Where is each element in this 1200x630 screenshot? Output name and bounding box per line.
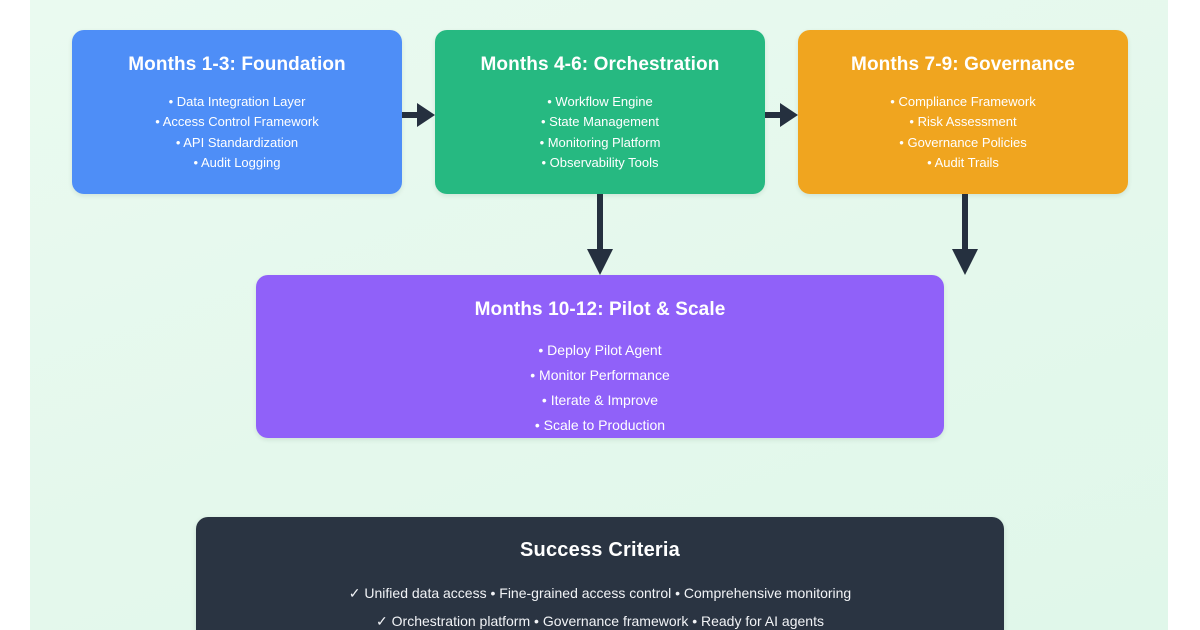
phase-item: • Audit Logging [72, 153, 402, 174]
phase-item-list-foundation: • Data Integration Layer • Access Contro… [72, 92, 402, 174]
phase-item: • Deploy Pilot Agent [256, 338, 944, 363]
arrow-shaft [597, 194, 603, 250]
phase-title-pilot-and-scale: Months 10-12: Pilot & Scale [256, 299, 944, 322]
phase-item: • Workflow Engine [435, 92, 765, 113]
phase-item: • State Management [435, 112, 765, 133]
phase-item-list-orchestration: • Workflow Engine • State Management • M… [435, 92, 765, 174]
phase-item: • Monitoring Platform [435, 133, 765, 154]
phase-item: • Monitor Performance [256, 363, 944, 388]
arrow-shaft [402, 112, 418, 118]
phase-item: • Risk Assessment [798, 112, 1128, 133]
phase-item: • Access Control Framework [72, 112, 402, 133]
phase-item: • Audit Trails [798, 153, 1128, 174]
phase-item: • Iterate & Improve [256, 388, 944, 413]
phase-item: • Data Integration Layer [72, 92, 402, 113]
phase-title-orchestration: Months 4-6: Orchestration [435, 54, 765, 77]
diagram-stage: Months 1-3: Foundation • Data Integratio… [30, 0, 1168, 630]
phase-item-list-governance: • Compliance Framework • Risk Assessment… [798, 92, 1128, 174]
success-criteria-title: Success Criteria [196, 539, 1004, 562]
arrow-shaft [765, 112, 781, 118]
phase-title-governance: Months 7-9: Governance [798, 54, 1128, 77]
phase-item: • Compliance Framework [798, 92, 1128, 113]
phase-card-orchestration[interactable]: Months 4-6: Orchestration • Workflow Eng… [435, 30, 765, 194]
phase-item: • Governance Policies [798, 133, 1128, 154]
success-criteria-line: ✓ Orchestration platform • Governance fr… [196, 607, 1004, 630]
phase-card-governance[interactable]: Months 7-9: Governance • Compliance Fram… [798, 30, 1128, 194]
phase-item: • Scale to Production [256, 413, 944, 438]
arrow-head [417, 103, 435, 127]
diagram-canvas: Months 1-3: Foundation • Data Integratio… [0, 0, 1200, 630]
arrow-head [952, 249, 978, 275]
phase-card-pilot-and-scale[interactable]: Months 10-12: Pilot & Scale • Deploy Pil… [256, 275, 944, 438]
arrow-head [780, 103, 798, 127]
phase-item: • Observability Tools [435, 153, 765, 174]
phase-card-foundation[interactable]: Months 1-3: Foundation • Data Integratio… [72, 30, 402, 194]
success-criteria-panel: Success Criteria ✓ Unified data access •… [196, 517, 1004, 630]
arrow-shaft [962, 194, 968, 250]
phase-title-foundation: Months 1-3: Foundation [72, 54, 402, 77]
arrow-head [587, 249, 613, 275]
phase-item: • API Standardization [72, 133, 402, 154]
success-criteria-line: ✓ Unified data access • Fine-grained acc… [196, 579, 1004, 607]
phase-item-list-pilot-and-scale: • Deploy Pilot Agent • Monitor Performan… [256, 338, 944, 438]
success-criteria-list: ✓ Unified data access • Fine-grained acc… [196, 579, 1004, 630]
